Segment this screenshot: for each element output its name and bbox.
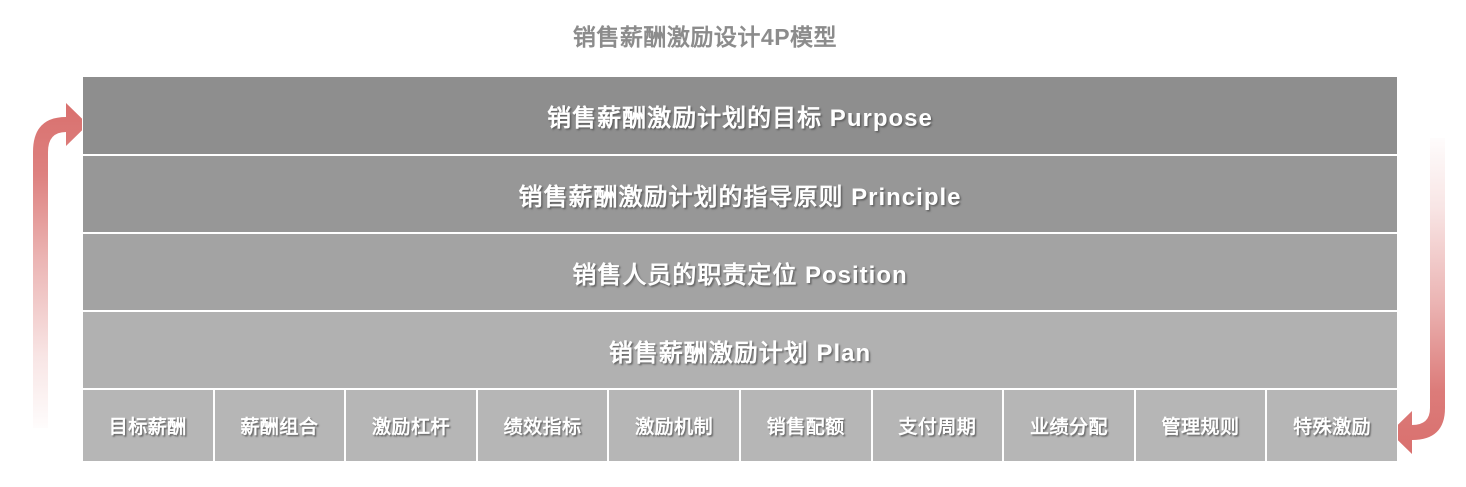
plan-cell-label: 特殊激励 xyxy=(1293,412,1371,439)
slide-canvas: 销售薪酬激励设计4P模型 xyxy=(0,0,1466,487)
plan-cell[interactable]: 支付周期 xyxy=(872,389,1004,462)
plan-cell-label: 目标薪酬 xyxy=(109,412,187,439)
band-plan[interactable]: 销售薪酬激励计划 Plan xyxy=(82,311,1398,389)
plan-cell[interactable]: 激励杠杆 xyxy=(345,389,477,462)
band-position[interactable]: 销售人员的职责定位 Position xyxy=(82,233,1398,311)
plan-cell[interactable]: 激励机制 xyxy=(608,389,740,462)
plan-cell[interactable]: 销售配额 xyxy=(740,389,872,462)
plan-cell-label: 绩效指标 xyxy=(504,412,582,439)
band-principle[interactable]: 销售薪酬激励计划的指导原则 Principle xyxy=(82,155,1398,233)
plan-cell[interactable]: 薪酬组合 xyxy=(214,389,346,462)
plan-cell-label: 管理规则 xyxy=(1162,412,1240,439)
plan-cell[interactable]: 业绩分配 xyxy=(1003,389,1135,462)
plan-cell-label: 支付周期 xyxy=(898,412,976,439)
four-p-stack: 销售薪酬激励计划的目标 Purpose 销售薪酬激励计划的指导原则 Princi… xyxy=(82,76,1398,462)
band-principle-label: 销售薪酬激励计划的指导原则 Principle xyxy=(518,177,961,212)
band-position-label: 销售人员的职责定位 Position xyxy=(572,255,907,290)
plan-cell[interactable]: 绩效指标 xyxy=(477,389,609,462)
down-left-arrow-icon xyxy=(1390,138,1445,454)
band-plan-label: 销售薪酬激励计划 Plan xyxy=(609,333,871,368)
plan-cell[interactable]: 目标薪酬 xyxy=(82,389,214,462)
band-purpose[interactable]: 销售薪酬激励计划的目标 Purpose xyxy=(82,76,1398,155)
band-purpose-label: 销售薪酬激励计划的目标 Purpose xyxy=(547,98,933,133)
page-title: 销售薪酬激励设计4P模型 xyxy=(0,18,1410,52)
plan-cell-label: 激励机制 xyxy=(635,412,713,439)
plan-cell-label: 激励杠杆 xyxy=(372,412,450,439)
plan-cell-label: 销售配额 xyxy=(767,412,845,439)
plan-cell[interactable]: 管理规则 xyxy=(1135,389,1267,462)
plan-cell-label: 薪酬组合 xyxy=(240,412,318,439)
up-right-arrow-icon xyxy=(33,103,88,428)
plan-cell-label: 业绩分配 xyxy=(1030,412,1108,439)
plan-cell[interactable]: 特殊激励 xyxy=(1266,389,1398,462)
plan-components-row: 目标薪酬 薪酬组合 激励杠杆 绩效指标 激励机制 销售配额 支付周期 业绩分配 … xyxy=(82,389,1398,462)
